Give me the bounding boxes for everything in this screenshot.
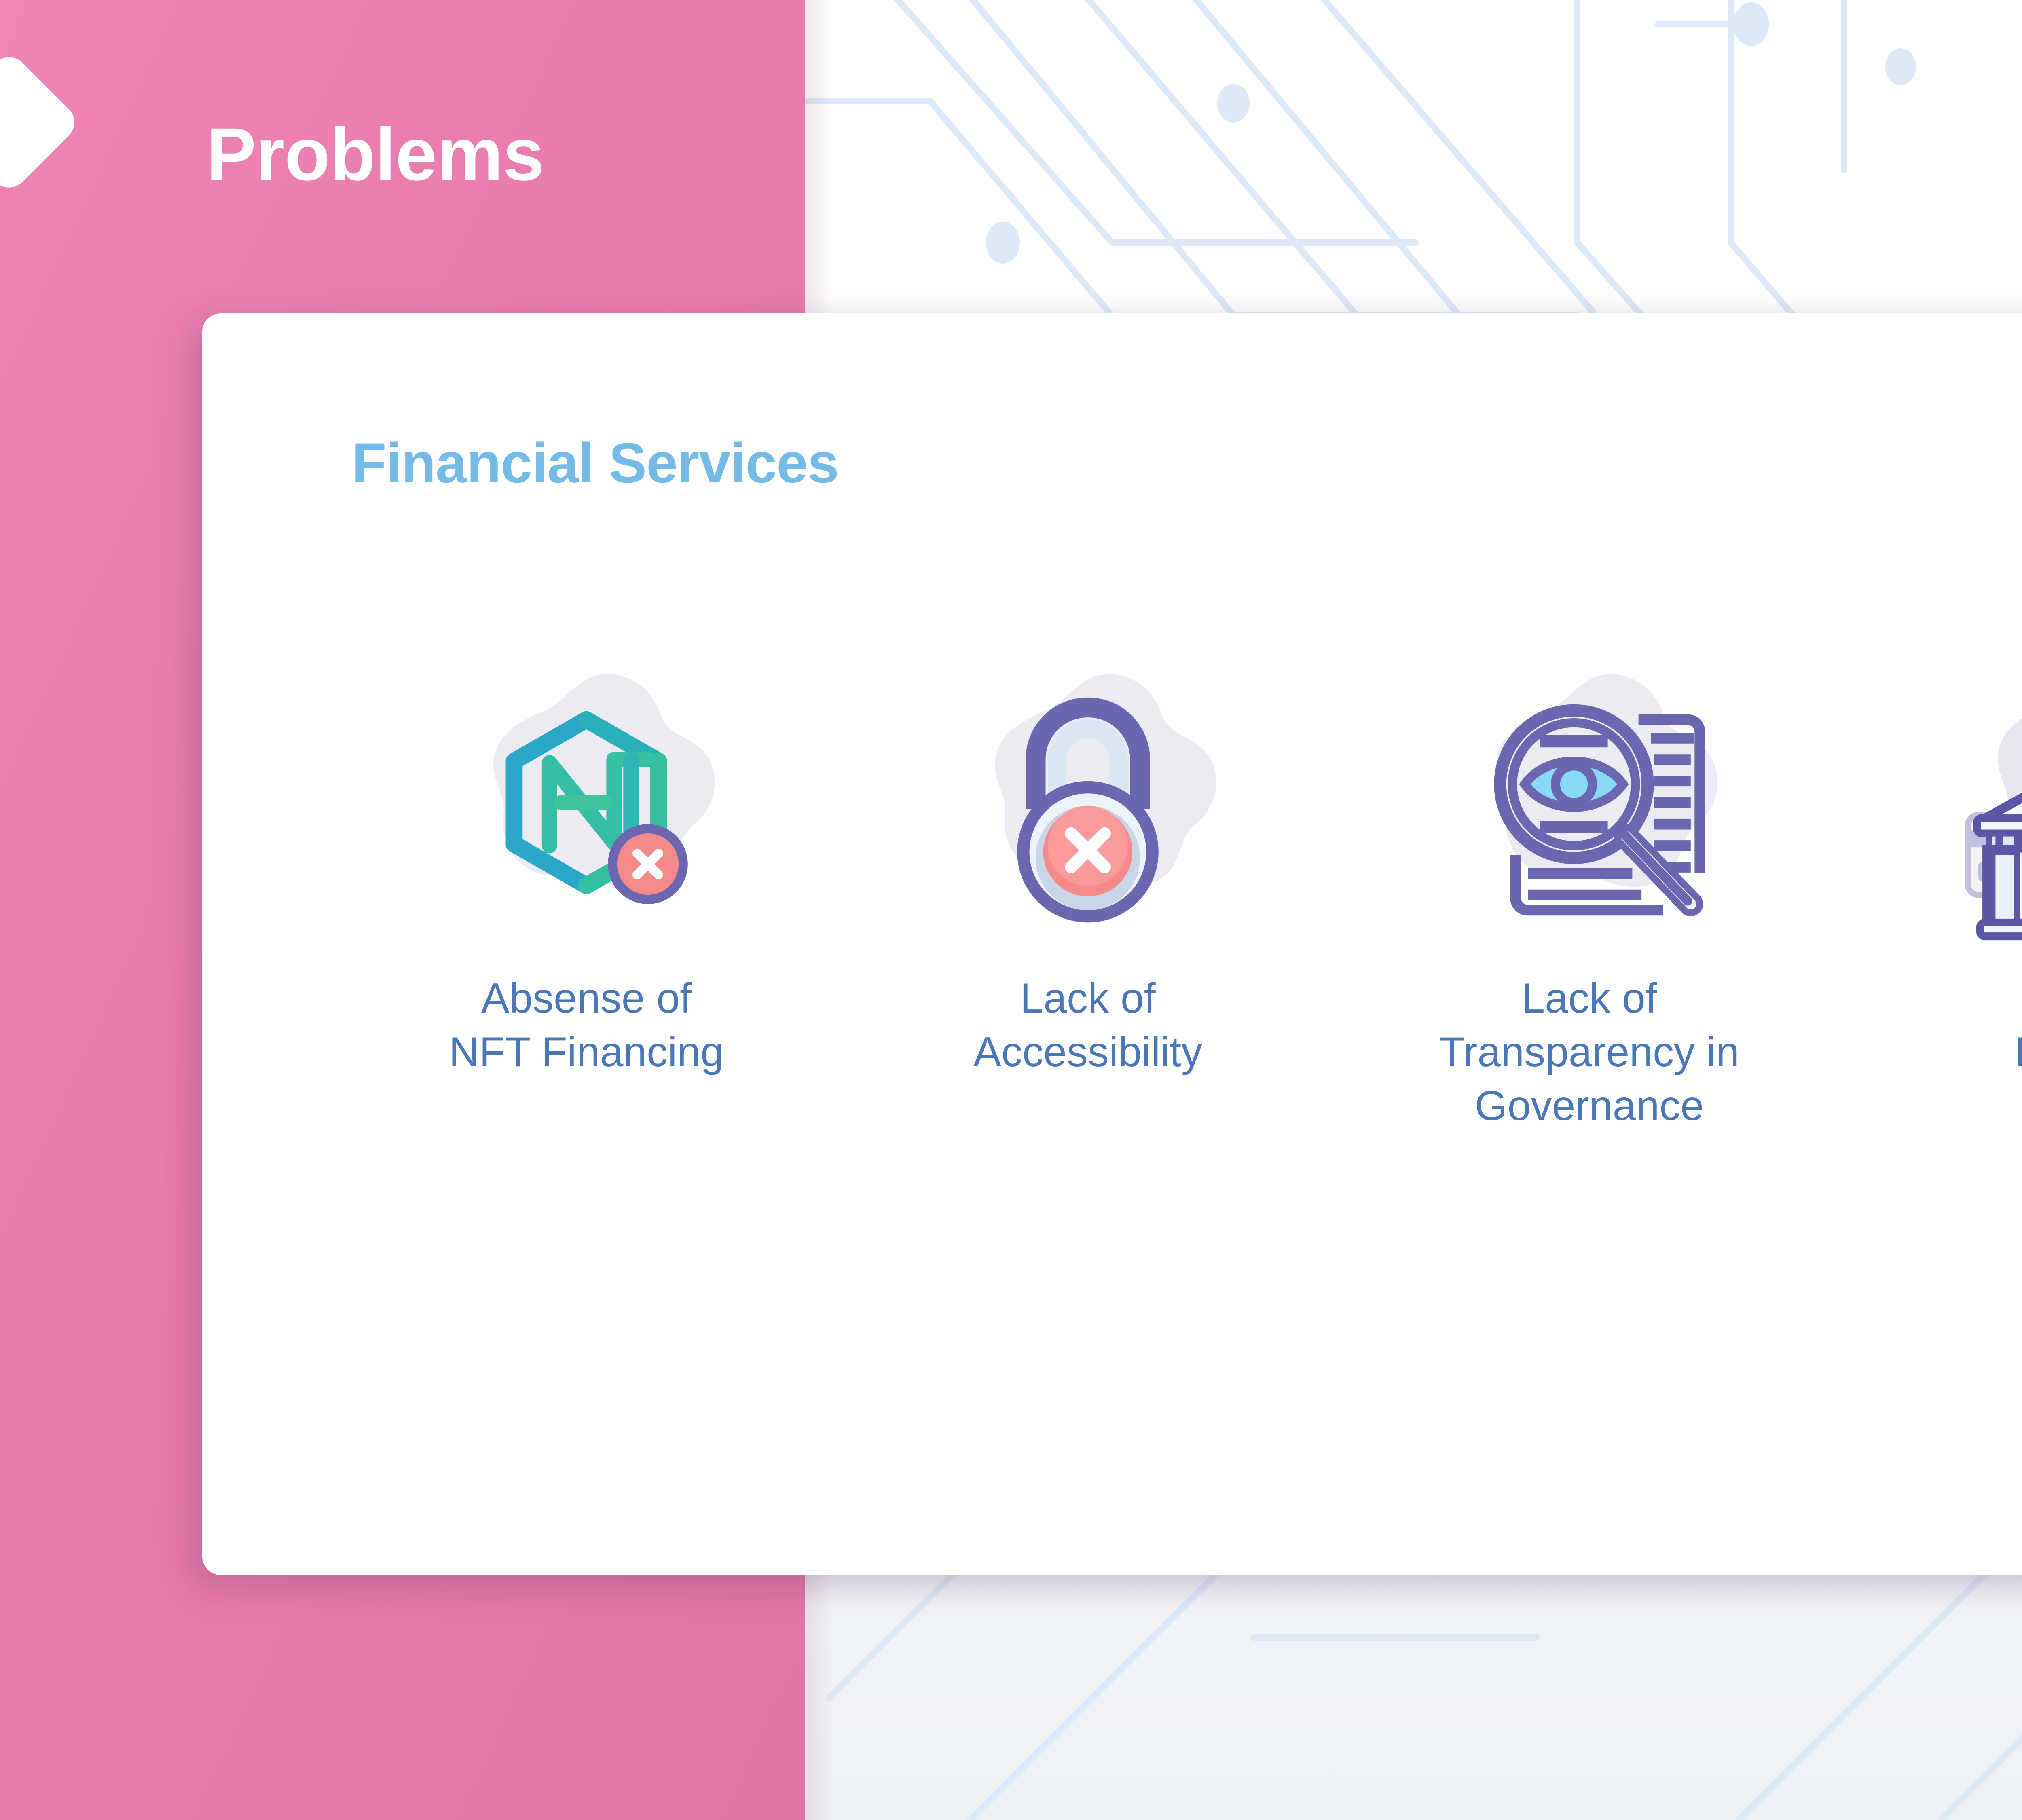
nft-token-blocked-icon	[433, 649, 740, 956]
problem-item-cost-of-banking[interactable]: Cost of Banking	[1840, 649, 2022, 1079]
content-card: Financial Services	[202, 313, 2022, 1575]
problem-item-label: Cost of Banking	[1889, 972, 2022, 1079]
chevron-right-marker-icon	[0, 49, 82, 195]
padlock-blocked-icon	[934, 649, 1242, 956]
problem-item-label: Absense of NFT Financing	[384, 972, 789, 1079]
problem-items-row: Absense of NFT Financing	[336, 649, 2022, 1377]
problem-item-transparency[interactable]: Lack of Transparency in Governance	[1339, 649, 1840, 1133]
problem-item-label: Lack of Accessibility	[886, 972, 1290, 1079]
problem-item-nft-financing[interactable]: Absense of NFT Financing	[336, 649, 837, 1079]
magnifier-eye-document-icon	[1436, 649, 1743, 956]
problem-item-label: Lack of Transparency in Governance	[1387, 972, 1791, 1133]
problem-item-accessibility[interactable]: Lack of Accessibility	[837, 649, 1339, 1079]
page-title: Problems	[206, 117, 544, 192]
section-title: Financial Services	[352, 435, 839, 491]
bank-building-money-icon	[1937, 649, 2022, 956]
